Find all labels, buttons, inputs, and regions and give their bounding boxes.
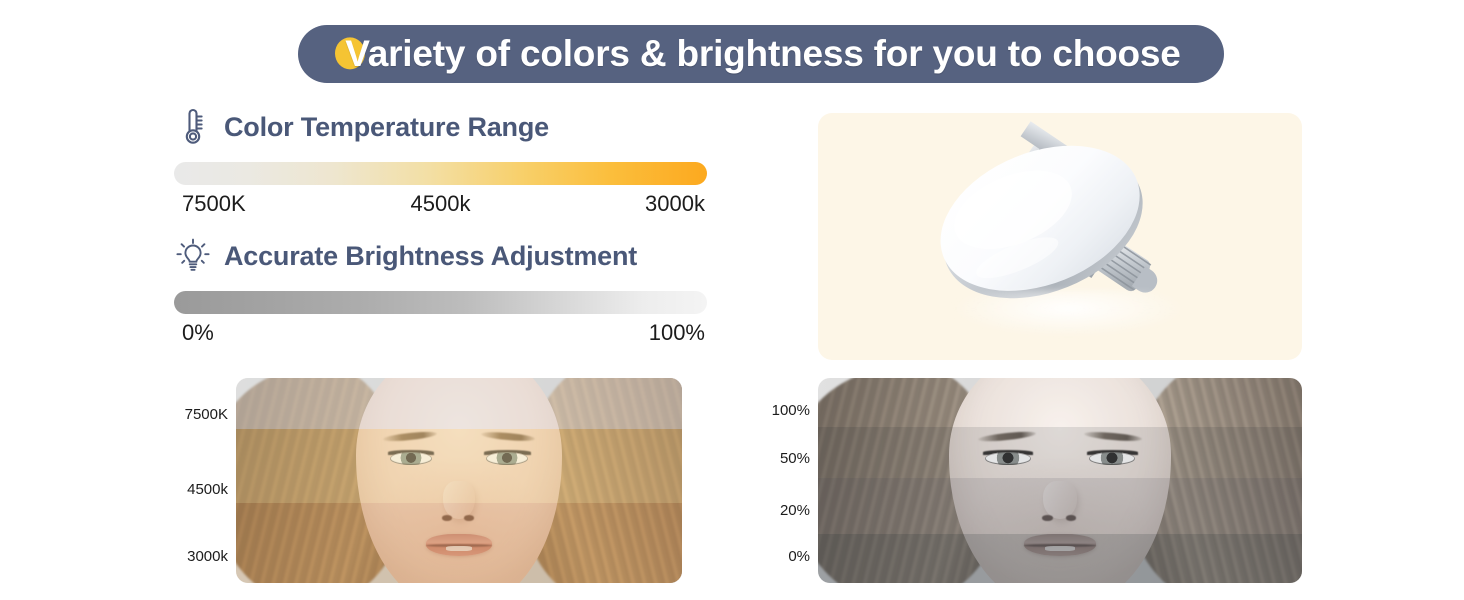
feature-title-color-temperature: Color Temperature Range — [224, 112, 549, 143]
temp-label-4500k: 4500k — [411, 191, 471, 217]
thermometer-icon — [174, 105, 212, 149]
led-bulb-photo — [902, 122, 1232, 352]
bulb-reflection — [954, 290, 1184, 336]
sample-temp-label-3000k: 3000k — [187, 548, 228, 565]
sample-brightness-label-0: 0% — [788, 548, 810, 565]
sample-brightness-label-100: 100% — [772, 402, 810, 419]
feature-title-brightness: Accurate Brightness Adjustment — [224, 241, 637, 272]
temperature-sample-photo-block — [236, 378, 682, 583]
portrait-image — [818, 378, 1302, 583]
brightness-scale-labels: 0% 100% — [174, 320, 707, 350]
temperature-sample-labels: 7500K 4500k 3000k — [160, 378, 228, 583]
feature-header-color-temperature: Color Temperature Range — [174, 104, 708, 150]
title-inner: Variety of colors & brightness for you t… — [341, 33, 1180, 75]
color-temperature-scale-labels: 7500K 4500k 3000k — [174, 191, 707, 221]
temperature-sample-photo — [236, 378, 682, 583]
brightness-label-0: 0% — [182, 320, 214, 346]
feature-header-brightness: Accurate Brightness Adjustment — [174, 233, 708, 279]
color-temperature-gradient-bar[interactable] — [174, 162, 707, 185]
brightness-label-100: 100% — [649, 320, 705, 346]
sample-temp-label-7500k: 7500K — [185, 406, 228, 423]
features-column: Color Temperature Range 7500K 4500k 3000… — [168, 104, 708, 350]
brightness-sample-labels: 100% 50% 20% 0% — [742, 378, 810, 583]
brightness-sample-photo — [818, 378, 1302, 583]
brightness-gradient-bar[interactable] — [174, 291, 707, 314]
page-title: Variety of colors & brightness for you t… — [345, 33, 1180, 74]
sample-brightness-label-20: 20% — [780, 502, 810, 519]
lightbulb-icon — [174, 234, 212, 278]
brightness-sample-photo-block — [818, 378, 1302, 583]
temp-label-3000k: 3000k — [645, 191, 705, 217]
sample-temp-label-4500k: 4500k — [187, 481, 228, 498]
temp-label-7500k: 7500K — [182, 191, 246, 217]
sample-brightness-label-50: 50% — [780, 450, 810, 467]
title-banner: Variety of colors & brightness for you t… — [298, 25, 1224, 83]
portrait-image — [236, 378, 682, 583]
product-image-card — [818, 113, 1302, 360]
